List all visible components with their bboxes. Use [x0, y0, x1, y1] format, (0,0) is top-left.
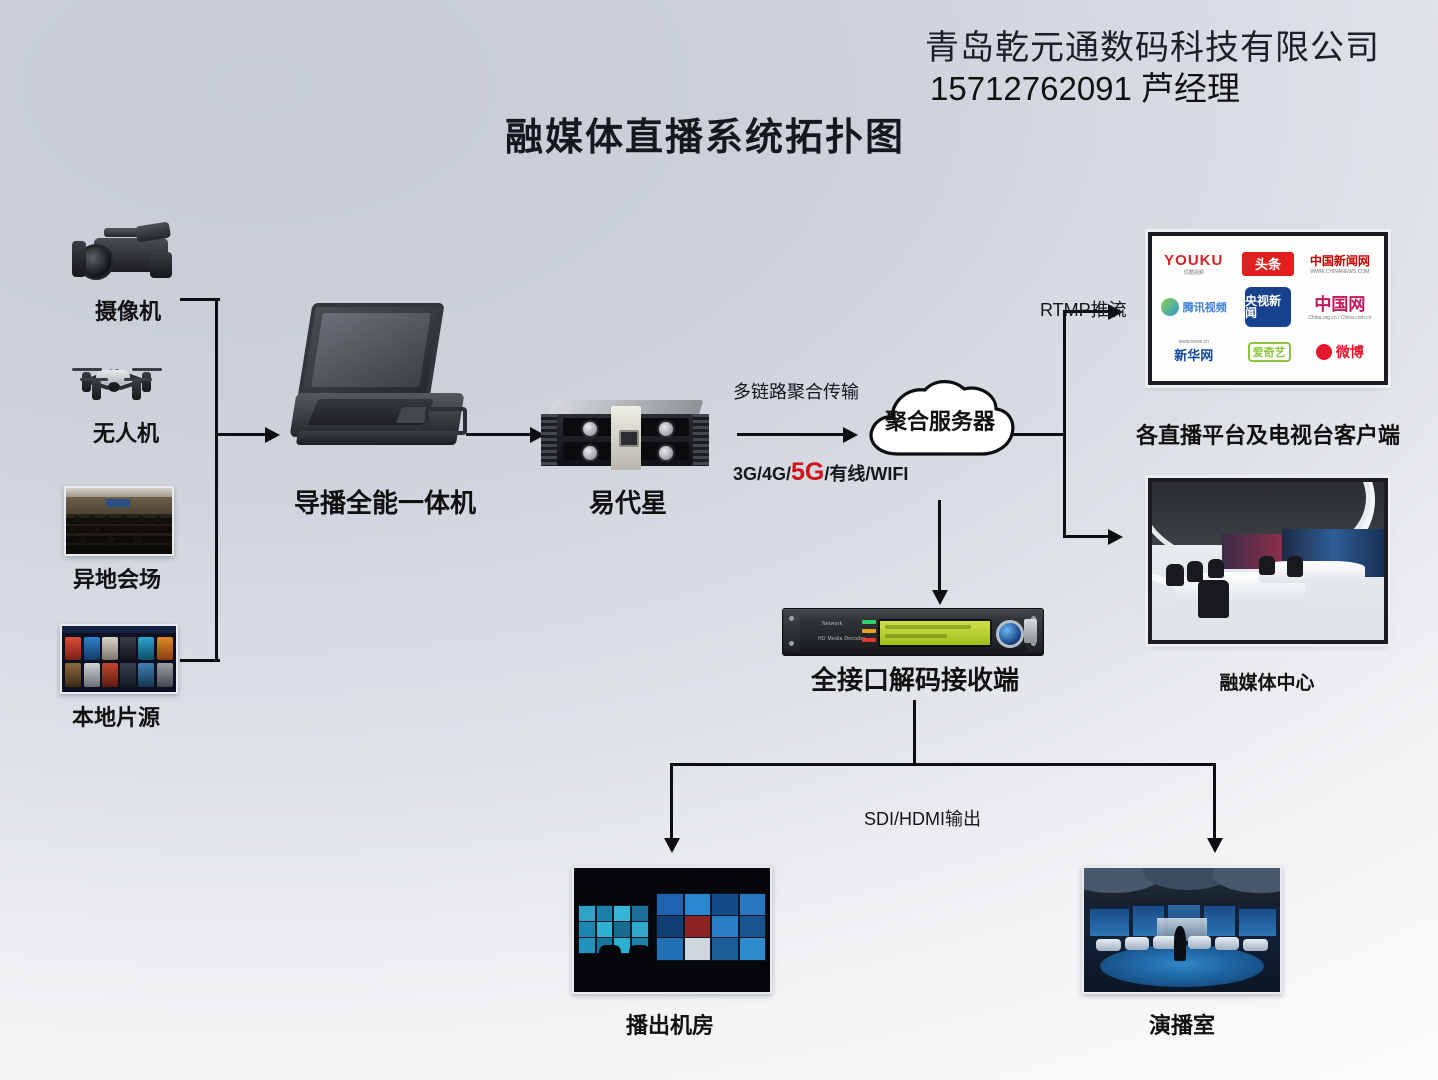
node-label-switcher: 导播全能一体机 [275, 483, 495, 520]
node-label-cloud: 聚合服务器 [862, 404, 1018, 436]
node-label-platforms: 各直播平台及电视台客户端 [1128, 418, 1408, 450]
cloud-icon: 聚合服务器 [862, 378, 1018, 462]
logo-china-net: 中国网 China.org.cn / China.com.cn [1300, 285, 1379, 326]
connector-decoder-down [913, 700, 916, 766]
arrow-to-broadcastroom [664, 838, 680, 853]
connector-sources-to-switcher [215, 433, 267, 436]
connector-sources-bus [215, 298, 218, 662]
connector-cloud-right [1012, 433, 1066, 436]
logo-youku: YOUKU 优酷视频 [1157, 245, 1231, 283]
arrow-to-mediacenter [1108, 529, 1123, 545]
bearers-5g: 5G [791, 458, 824, 486]
arrow-encoder-to-cloud [843, 427, 858, 443]
bonding-encoder-icon [541, 400, 711, 472]
arrow-cloud-to-decoder [932, 590, 948, 605]
rack-decoder-icon: Network HD Media Decoder [782, 608, 1048, 656]
source-label-drone: 无人机 [56, 416, 196, 448]
conference-hall-photo [64, 486, 174, 556]
connector-to-studio [1213, 763, 1216, 841]
connector-to-mediacenter [1063, 535, 1111, 538]
movie-library-tv-photo [60, 624, 178, 694]
platform-logo-wall: YOUKU 优酷视频 头条 中国新闻网 WWW.CHINANEWS.COM 腾讯… [1148, 232, 1388, 385]
rugged-laptop-icon [287, 303, 473, 453]
source-label-localfile: 本地片源 [46, 700, 186, 732]
logo-iqiyi: 爱奇艺 [1238, 335, 1301, 370]
connector-cloud-to-decoder [938, 500, 941, 594]
tencent-play-icon [1161, 298, 1179, 316]
arrow-to-studio [1207, 838, 1223, 853]
weibo-eye-icon [1316, 344, 1332, 360]
bearers-prefix: 3G/4G/ [733, 464, 791, 484]
link-label-sdi: SDI/HDMI输出 [864, 805, 981, 831]
drone-icon [70, 358, 180, 404]
logo-tencent-video: 腾讯视频 [1157, 288, 1231, 326]
node-label-broadcastroom: 播出机房 [600, 1008, 740, 1040]
link-label-multilink: 多链路聚合传输 [733, 378, 859, 404]
link-label-rtmp: RTMP推流 [1040, 296, 1127, 322]
connector-outputs-bus [670, 763, 1216, 766]
camcorder-icon [78, 222, 178, 282]
broadcast-room-photo [572, 866, 772, 994]
node-label-studio: 演播室 [1112, 1008, 1252, 1040]
logo-cctv-news: 央视新闻 [1240, 284, 1296, 330]
logo-toutiao: 头条 [1240, 248, 1296, 280]
source-label-camera: 摄像机 [58, 294, 198, 326]
connector-sources-top [180, 298, 220, 301]
logo-xinhua-net: www.news.cn 新华网 [1157, 332, 1231, 373]
source-label-venue: 异地会场 [47, 562, 187, 594]
decoder-model-text: HD Media Decoder [818, 636, 865, 642]
node-label-encoder: 易代星 [538, 483, 718, 520]
connector-switcher-to-encoder [466, 433, 532, 436]
bearers-suffix: /有线/WIFI [824, 464, 908, 484]
logo-weibo: 微博 [1305, 335, 1375, 370]
arrow-sources-to-switcher [265, 427, 280, 443]
connector-sources-bottom [180, 659, 220, 662]
decoder-brand-text: Network [822, 621, 842, 627]
connector-to-broadcastroom [670, 763, 673, 841]
media-center-photo [1148, 478, 1388, 644]
contact-phone: 15712762091 芦经理 [930, 62, 1430, 110]
logo-chinanews: 中国新闻网 WWW.CHINANEWS.COM [1300, 245, 1379, 283]
topology-diagram: 青岛乾元通数码科技有限公司 15712762091 芦经理 融媒体直播系统拓扑图… [0, 0, 1438, 1080]
link-label-bearers: 3G/4G/5G/有线/WIFI [733, 458, 908, 487]
studio-photo [1082, 866, 1282, 994]
connector-encoder-to-cloud [737, 433, 845, 436]
connector-right-bus [1063, 310, 1066, 538]
diagram-title: 融媒体直播系统拓扑图 [505, 106, 905, 161]
node-label-mediacenter: 融媒体中心 [1182, 668, 1352, 695]
node-label-decoder: 全接口解码接收端 [780, 660, 1050, 697]
